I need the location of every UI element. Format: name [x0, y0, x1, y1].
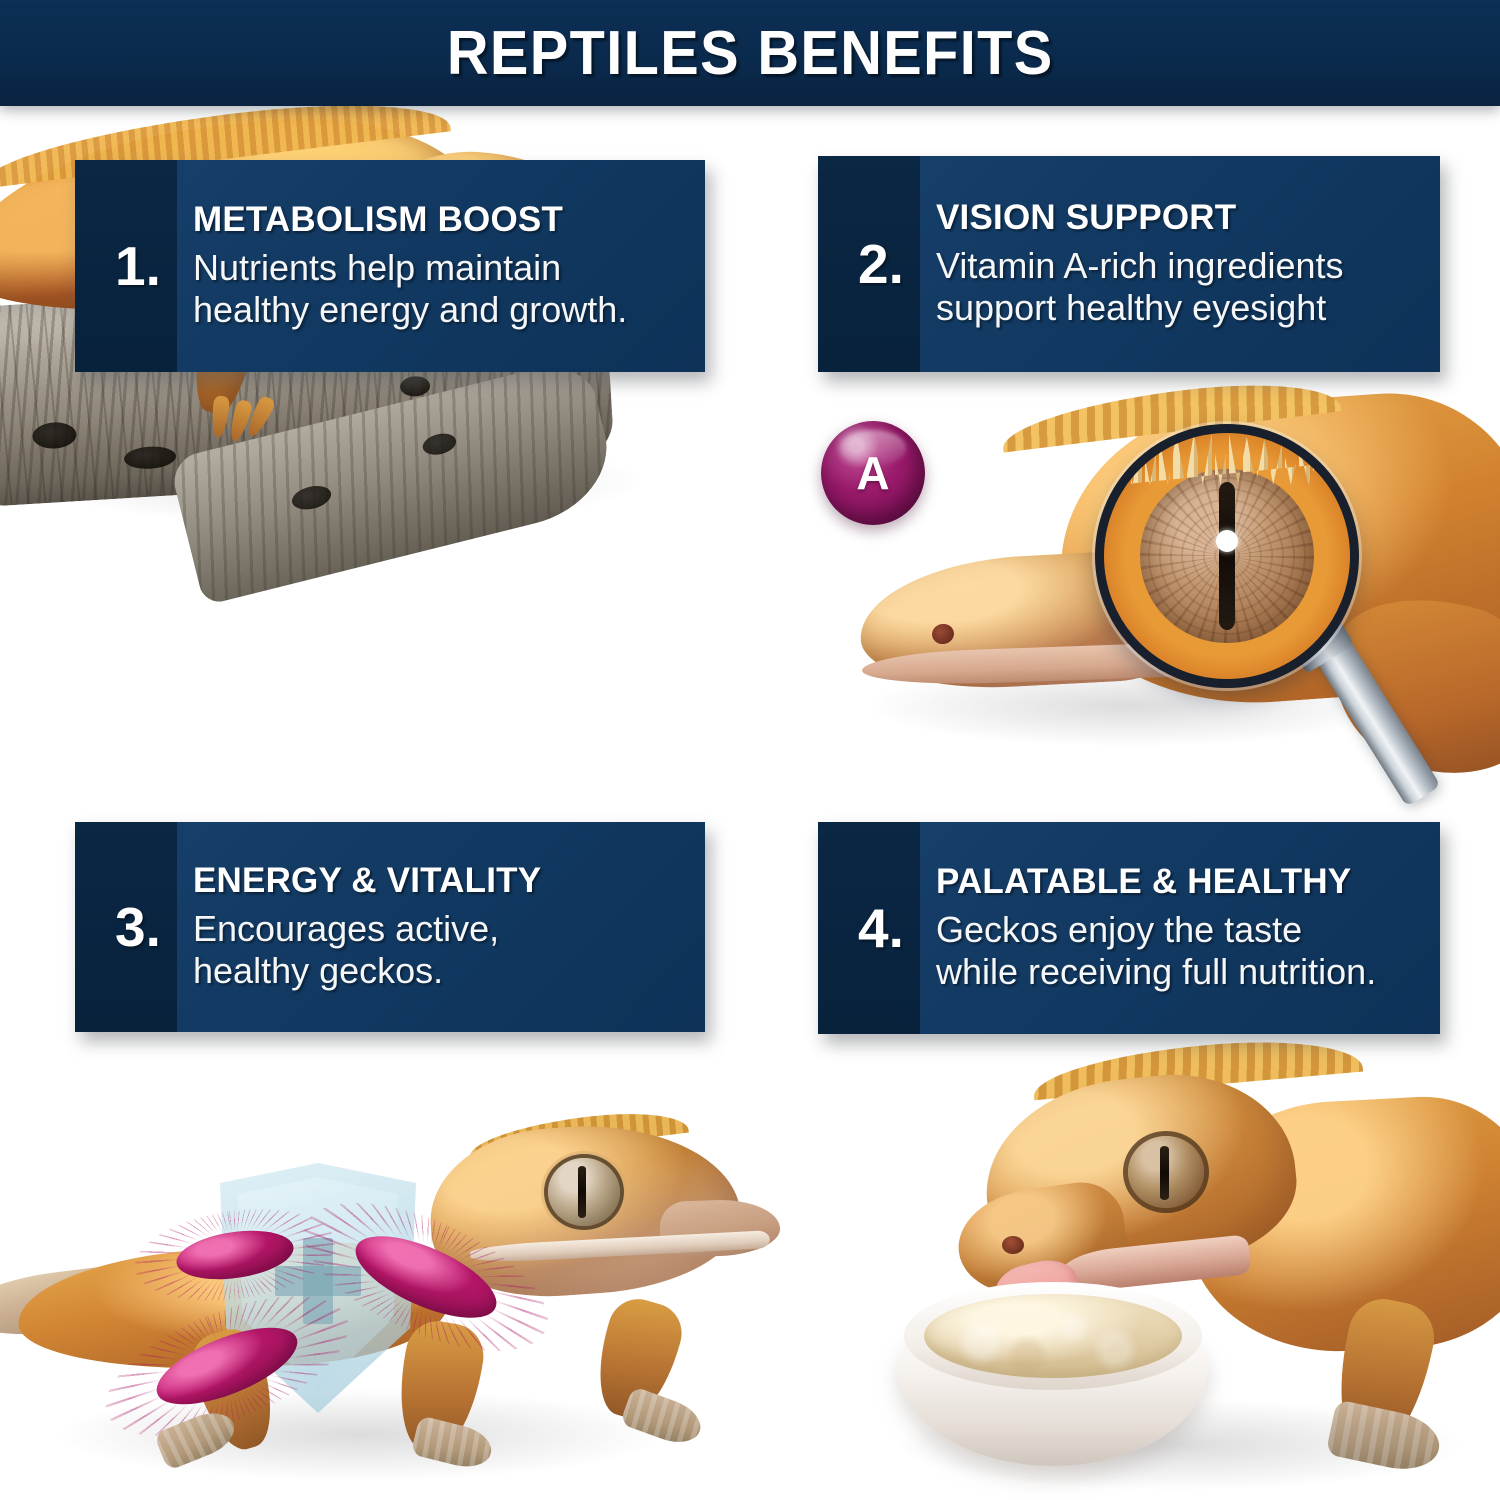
benefit-number-3: 3.	[111, 822, 177, 1032]
gecko-food	[924, 1294, 1182, 1378]
card-accent-strip	[75, 160, 111, 372]
card-body: PALATABLE & HEALTHY Geckos enjoy the tas…	[920, 822, 1440, 1034]
benefit-text-line: healthy geckos.	[193, 950, 687, 992]
magnifying-glass-icon	[1095, 424, 1359, 688]
header-banner: REPTILES BENEFITS	[0, 0, 1500, 106]
benefit-heading-3: ENERGY & VITALITY	[193, 863, 687, 899]
benefit-text-line: while receiving full nutrition.	[936, 951, 1422, 993]
log-knot-icon	[32, 421, 78, 450]
card-body: VISION SUPPORT Vitamin A-rich ingredient…	[920, 156, 1440, 372]
vitamin-a-badge: A	[821, 421, 925, 525]
infographic-root: REPTILES BENEFITS	[0, 0, 1500, 1500]
gecko-nostril	[1002, 1236, 1024, 1254]
benefit-card-1[interactable]: 1. METABOLISM BOOST Nutrients help maint…	[75, 160, 705, 372]
log-knot-icon	[123, 445, 176, 470]
card-body: ENERGY & VITALITY Encourages active, hea…	[177, 822, 705, 1032]
page-title: REPTILES BENEFITS	[447, 18, 1054, 89]
benefit-heading-4: PALATABLE & HEALTHY	[936, 864, 1422, 900]
benefit-text-line: Vitamin A-rich ingredients	[936, 245, 1422, 287]
benefit-card-2[interactable]: 2. VISION SUPPORT Vitamin A-rich ingredi…	[818, 156, 1440, 372]
food-dish	[898, 1282, 1208, 1472]
log-knot-icon	[420, 430, 458, 458]
benefit-card-4[interactable]: 4. PALATABLE & HEALTHY Geckos enjoy the …	[818, 822, 1440, 1034]
log-knot-icon	[289, 482, 333, 513]
card-accent-strip	[818, 822, 854, 1034]
gecko-pupil	[1160, 1146, 1169, 1200]
benefit-number-1: 1.	[111, 160, 177, 372]
bacteria-icon	[173, 1224, 296, 1286]
log-knot-icon	[400, 375, 431, 397]
benefit-text-line: Nutrients help maintain	[193, 247, 687, 289]
benefit-heading-1: METABOLISM BOOST	[193, 202, 687, 238]
benefit-heading-2: VISION SUPPORT	[936, 200, 1422, 236]
benefit-text-line: Geckos enjoy the taste	[936, 909, 1422, 951]
benefit-text-line: support healthy eyesight	[936, 287, 1422, 329]
benefit-text-line: Encourages active,	[193, 908, 687, 950]
card-accent-strip	[75, 822, 111, 1032]
card-body: METABOLISM BOOST Nutrients help maintain…	[177, 160, 705, 372]
pupil-highlight	[1216, 530, 1238, 552]
food-texture	[924, 1294, 1182, 1378]
benefit-text-line: healthy energy and growth.	[193, 289, 687, 331]
vitamin-a-label: A	[856, 446, 889, 500]
benefit-card-3[interactable]: 3. ENERGY & VITALITY Encourages active, …	[75, 822, 705, 1032]
benefit-number-4: 4.	[854, 822, 920, 1034]
gecko-pupil	[578, 1166, 586, 1218]
card-accent-strip	[818, 156, 854, 372]
benefit-number-2: 2.	[854, 156, 920, 372]
gecko-pupil	[1219, 482, 1235, 630]
